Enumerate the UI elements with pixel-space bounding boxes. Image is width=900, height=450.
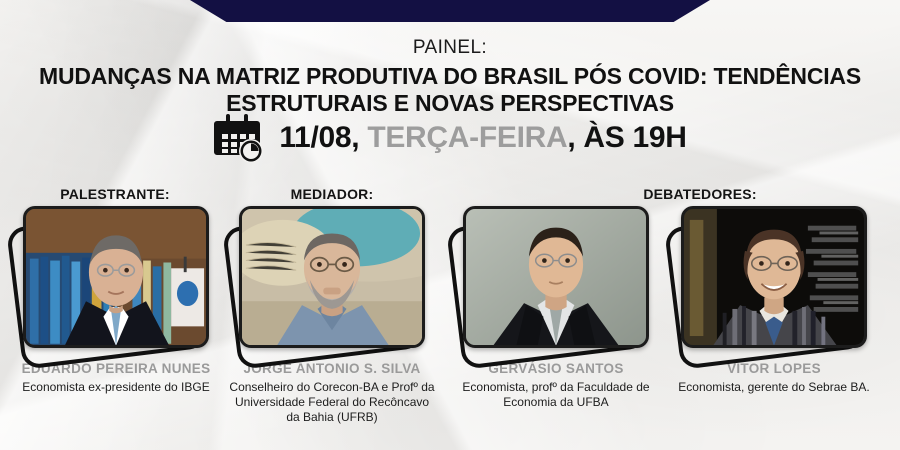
photo-wrapper	[23, 206, 209, 348]
event-date-text: 11/08, TERÇA-FEIRA, ÀS 19H	[279, 121, 686, 155]
date-weekday: TERÇA-FEIRA	[359, 121, 567, 154]
portrait-photo	[23, 206, 209, 348]
event-date-row: 11/08, TERÇA-FEIRA, ÀS 19H	[0, 112, 900, 164]
speaker-card: JORGE ANTONIO S. SILVA Conselheiro do Co…	[224, 206, 440, 425]
role-label-debatedores: DEBATEDORES:	[560, 186, 840, 202]
speaker-description: Economista ex-presidente do IBGE	[8, 380, 224, 395]
speaker-description: Conselheiro do Corecon-BA e Profº da Uni…	[224, 380, 440, 425]
role-label-mediador: MEDIADOR:	[232, 186, 432, 202]
speaker-description: Economista, profº da Faculdade de Econom…	[448, 380, 664, 410]
portrait-photo	[239, 206, 425, 348]
headline-block: PAINEL: MUDANÇAS NA MATRIZ PRODUTIVA DO …	[0, 36, 900, 117]
top-navy-banner	[190, 0, 710, 22]
speaker-card: GERVÁSIO SANTOS Economista, profº da Fac…	[448, 206, 664, 410]
photo-wrapper	[463, 206, 649, 348]
painel-label: PAINEL:	[0, 36, 900, 60]
calendar-clock-icon	[213, 112, 265, 164]
photo-wrapper	[239, 206, 425, 348]
page-title: MUDANÇAS NA MATRIZ PRODUTIVA DO BRASIL P…	[0, 63, 900, 117]
role-label-palestrante: PALESTRANTE:	[15, 186, 215, 202]
date-day: 11/08,	[279, 121, 359, 154]
speaker-card: EDUARDO PEREIRA NUNES Economista ex-pres…	[8, 206, 224, 395]
portrait-photo	[681, 206, 867, 348]
portrait-photo	[463, 206, 649, 348]
date-time: , ÀS 19H	[567, 121, 686, 154]
speaker-description: Economista, gerente do Sebrae BA.	[666, 380, 882, 395]
event-poster: PAINEL: MUDANÇAS NA MATRIZ PRODUTIVA DO …	[0, 0, 900, 450]
photo-wrapper	[681, 206, 867, 348]
speaker-card: VITOR LOPES Economista, gerente do Sebra…	[666, 206, 882, 395]
